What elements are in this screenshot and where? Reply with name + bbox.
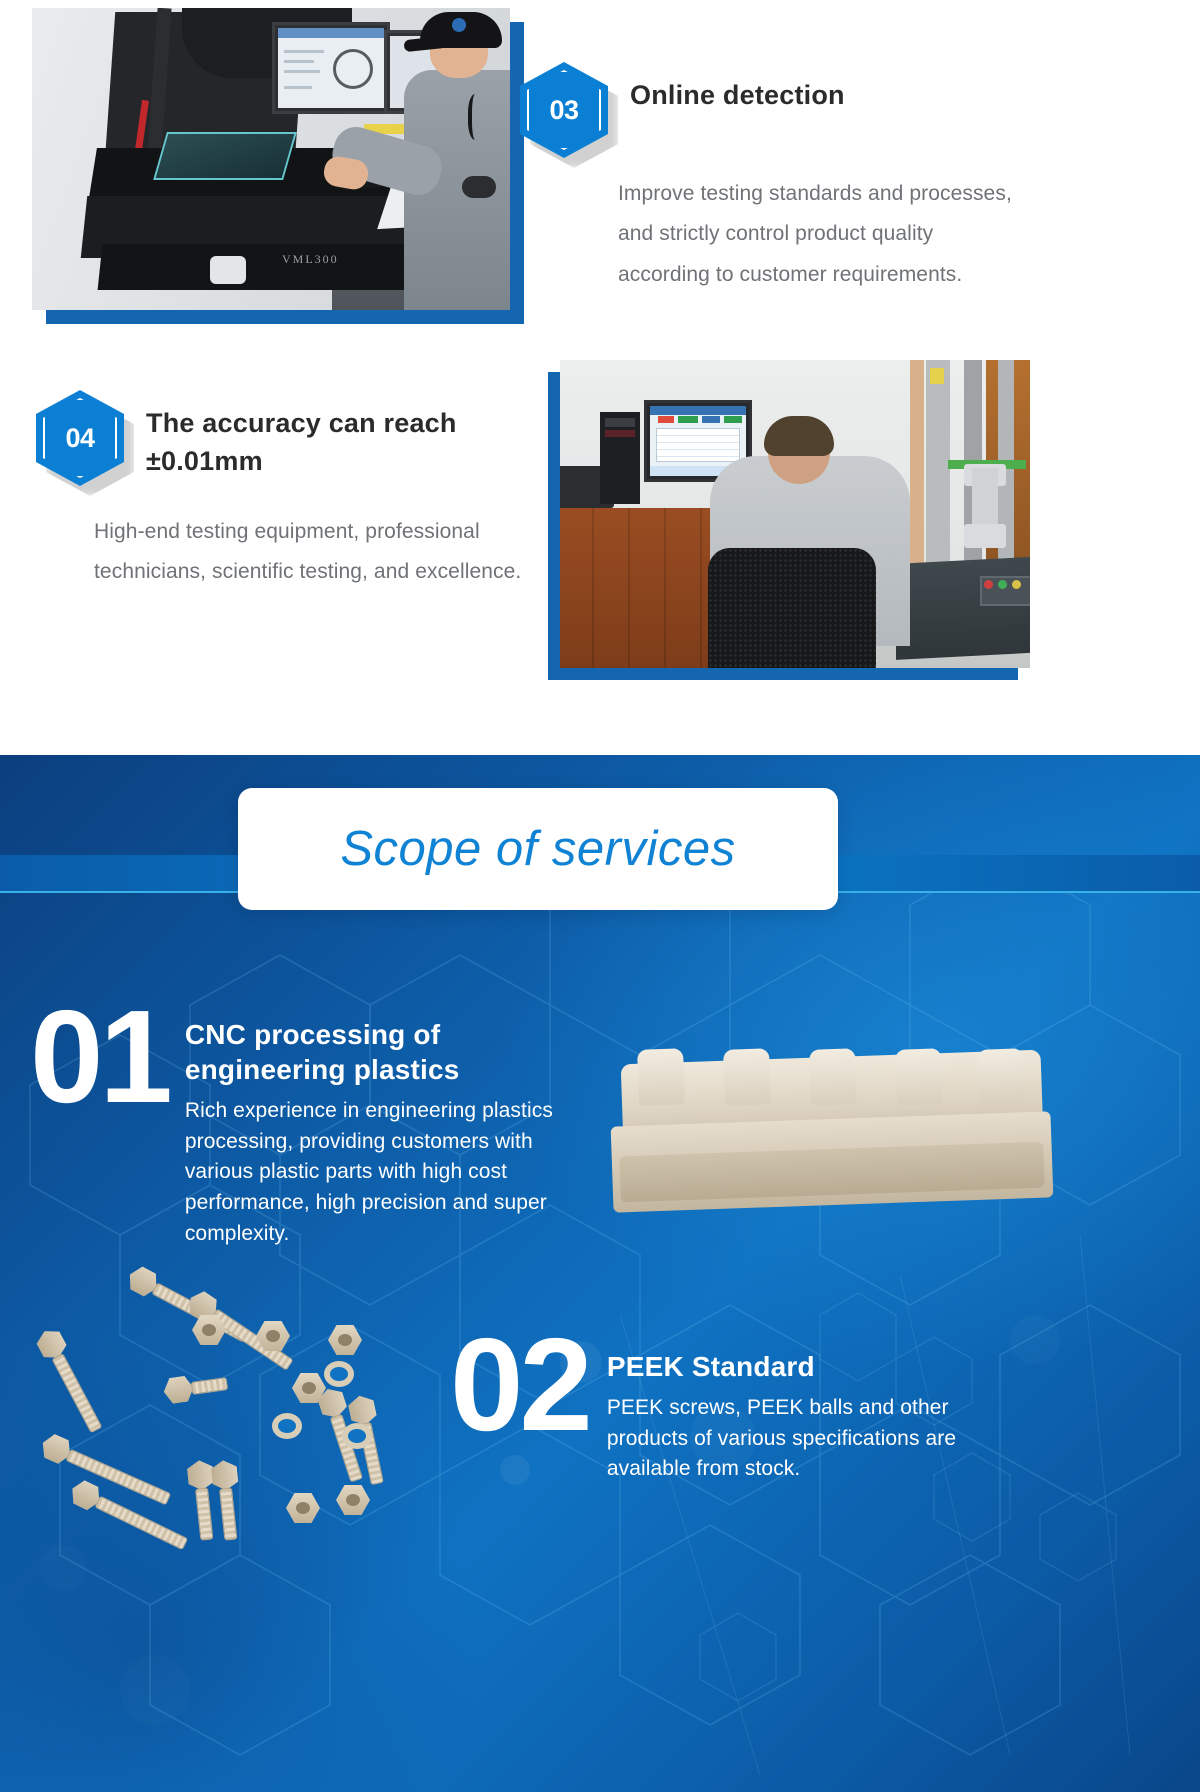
- scope-of-services-section: Scope of services 01 CNC processing of e…: [0, 755, 1200, 1792]
- service-title: PEEK Standard: [607, 1349, 1007, 1384]
- service-number: 01: [30, 1003, 169, 1111]
- feature-number: 04: [36, 390, 124, 486]
- service-cnc-processing: 01 CNC processing of engineering plastic…: [30, 1003, 650, 1249]
- feature-heading-row: 04 The accuracy can reach ±0.01mm: [36, 390, 536, 486]
- photo-image-tensile-lab: [560, 360, 1030, 668]
- photo-online-detection: VML300: [32, 8, 572, 318]
- photo-accuracy-testing: [540, 360, 1040, 690]
- service-body: Rich experience in engineering plastics …: [185, 1096, 605, 1249]
- service-text: PEEK Standard PEEK screws, PEEK balls an…: [607, 1331, 1007, 1485]
- hexagon-number-badge-03: 03: [520, 62, 608, 158]
- service-body: PEEK screws, PEEK balls and other produc…: [607, 1393, 1007, 1485]
- service-text: CNC processing of engineering plastics R…: [185, 1003, 605, 1249]
- product-image-peek-fasteners: [40, 1263, 470, 1553]
- feature-body: Improve testing standards and processes,…: [618, 174, 1018, 295]
- service-number: 02: [450, 1331, 589, 1439]
- product-image-peek-machined-part: [612, 1023, 1052, 1273]
- photo-image-metrology: VML300: [32, 8, 510, 310]
- page-title: Scope of services: [340, 821, 735, 877]
- feature-heading-row: 03 Online detection: [520, 62, 1180, 158]
- hexagon-number-badge-04: 04: [36, 390, 124, 486]
- service-title: CNC processing of engineering plastics: [185, 1017, 605, 1087]
- feature-body: High-end testing equipment, professional…: [94, 512, 524, 593]
- feature-accuracy: 04 The accuracy can reach ±0.01mm High-e…: [36, 390, 536, 593]
- feature-title: The accuracy can reach ±0.01mm: [146, 390, 536, 481]
- feature-title: Online detection: [630, 62, 845, 114]
- feature-online-detection: 03 Online detection Improve testing stan…: [520, 62, 1180, 295]
- feature-number: 03: [520, 62, 608, 158]
- service-peek-standard: 02 PEEK Standard PEEK screws, PEEK balls…: [450, 1331, 1070, 1485]
- scope-title-card: Scope of services: [238, 788, 838, 910]
- features-section: VML300 03: [0, 0, 1200, 755]
